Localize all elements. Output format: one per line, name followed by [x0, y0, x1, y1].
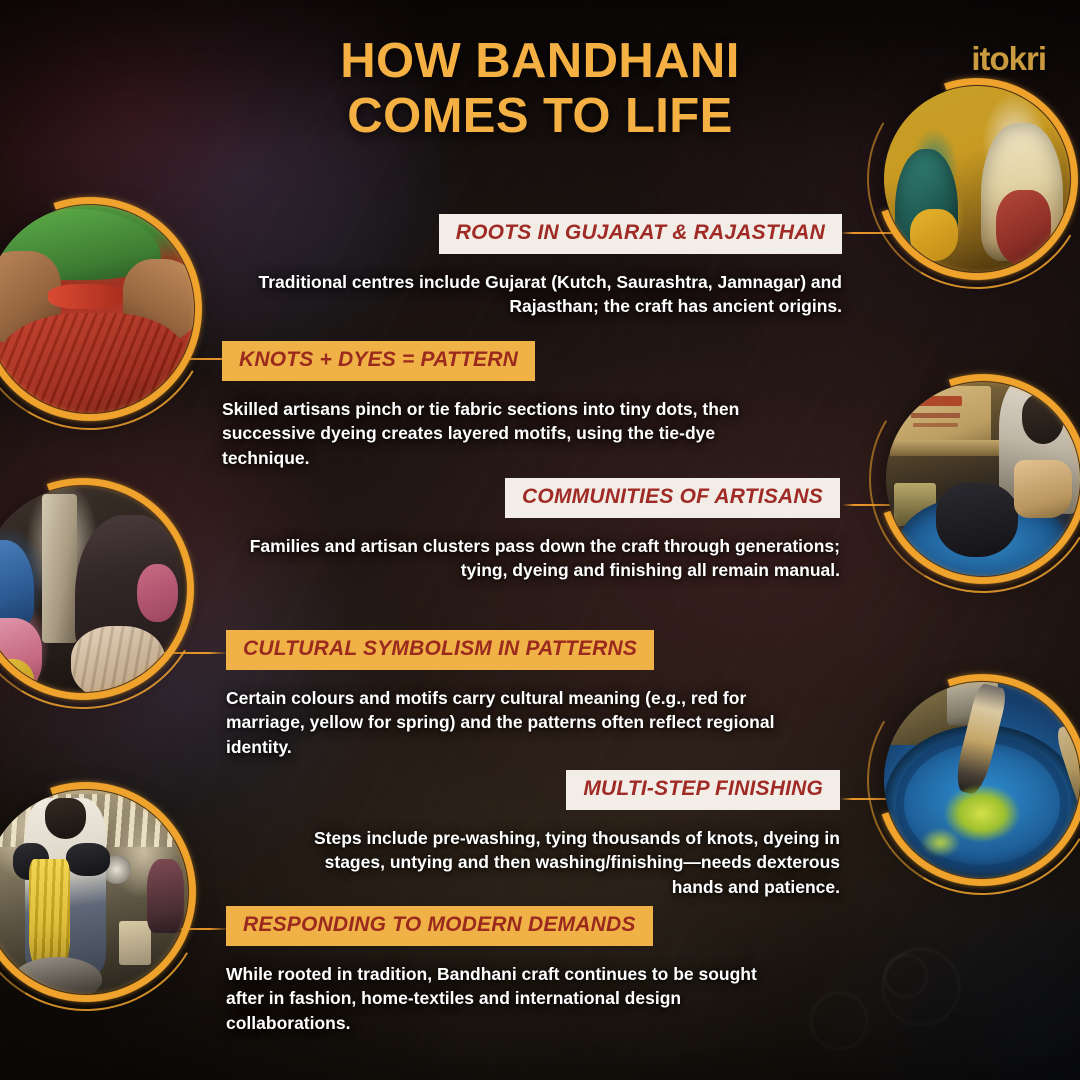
section-knots-dyes-pattern: KNOTS + DYES = PATTERN Skilled artisans …	[222, 341, 790, 471]
photo-dye-vat-indigo	[884, 682, 1080, 878]
section-heading-banner: KNOTS + DYES = PATTERN	[222, 341, 535, 381]
section-multi-step-finishing: MULTI-STEP FINISHING Steps include pre-w…	[300, 770, 840, 900]
section-body-text: Certain colours and motifs carry cultura…	[226, 686, 798, 760]
photo-dyeing-blue-tub	[886, 382, 1080, 576]
connector-line-3	[842, 504, 890, 506]
brand-logo[interactable]: itokri	[971, 40, 1046, 78]
brand-logo-text: itokri	[971, 40, 1046, 77]
photo-hands-tying-red	[0, 205, 194, 413]
photo-lifting-yellow-cloth	[0, 790, 188, 994]
section-roots-in-gujarat-rajasthan: ROOTS IN GUJARAT & RAJASTHAN Traditional…	[220, 214, 842, 319]
photo-hands-tying-red-image	[0, 205, 194, 413]
section-heading-banner: ROOTS IN GUJARAT & RAJASTHAN	[439, 214, 842, 254]
connector-line-5	[840, 798, 890, 800]
section-heading-banner: MULTI-STEP FINISHING	[566, 770, 840, 810]
section-body-text: Traditional centres include Gujarat (Kut…	[220, 270, 842, 319]
section-heading-banner: RESPONDING TO MODERN DEMANDS	[226, 906, 653, 946]
page-title: HOW BANDHANI COMES TO LIFE	[0, 34, 1080, 145]
section-body-text: While rooted in tradition, Bandhani craf…	[226, 962, 794, 1036]
section-body-text: Steps include pre-washing, tying thousan…	[300, 826, 840, 900]
photo-dyeing-blue-tub-image	[886, 382, 1080, 576]
section-body-text: Families and artisan clusters pass down …	[230, 534, 840, 583]
photo-lifting-yellow-cloth-image	[0, 790, 188, 994]
section-body-text: Skilled artisans pinch or tie fabric sec…	[222, 397, 790, 471]
infographic-canvas: HOW BANDHANI COMES TO LIFE itokri	[0, 0, 1080, 1080]
photo-woman-tying-shawl	[0, 486, 186, 692]
title-line-1: HOW BANDHANI	[0, 34, 1080, 89]
section-responding-to-modern-demands: RESPONDING TO MODERN DEMANDS While roote…	[226, 906, 794, 1036]
section-cultural-symbolism-in-patterns: CULTURAL SYMBOLISM IN PATTERNS Certain c…	[226, 630, 798, 760]
section-heading-banner: COMMUNITIES OF ARTISANS	[505, 478, 840, 518]
photo-woman-tying-shawl-image	[0, 486, 186, 692]
title-line-2: COMES TO LIFE	[0, 89, 1080, 144]
section-heading-banner: CULTURAL SYMBOLISM IN PATTERNS	[226, 630, 654, 670]
section-communities-of-artisans: COMMUNITIES OF ARTISANS Families and art…	[230, 478, 840, 583]
photo-dye-vat-indigo-image	[884, 682, 1080, 878]
